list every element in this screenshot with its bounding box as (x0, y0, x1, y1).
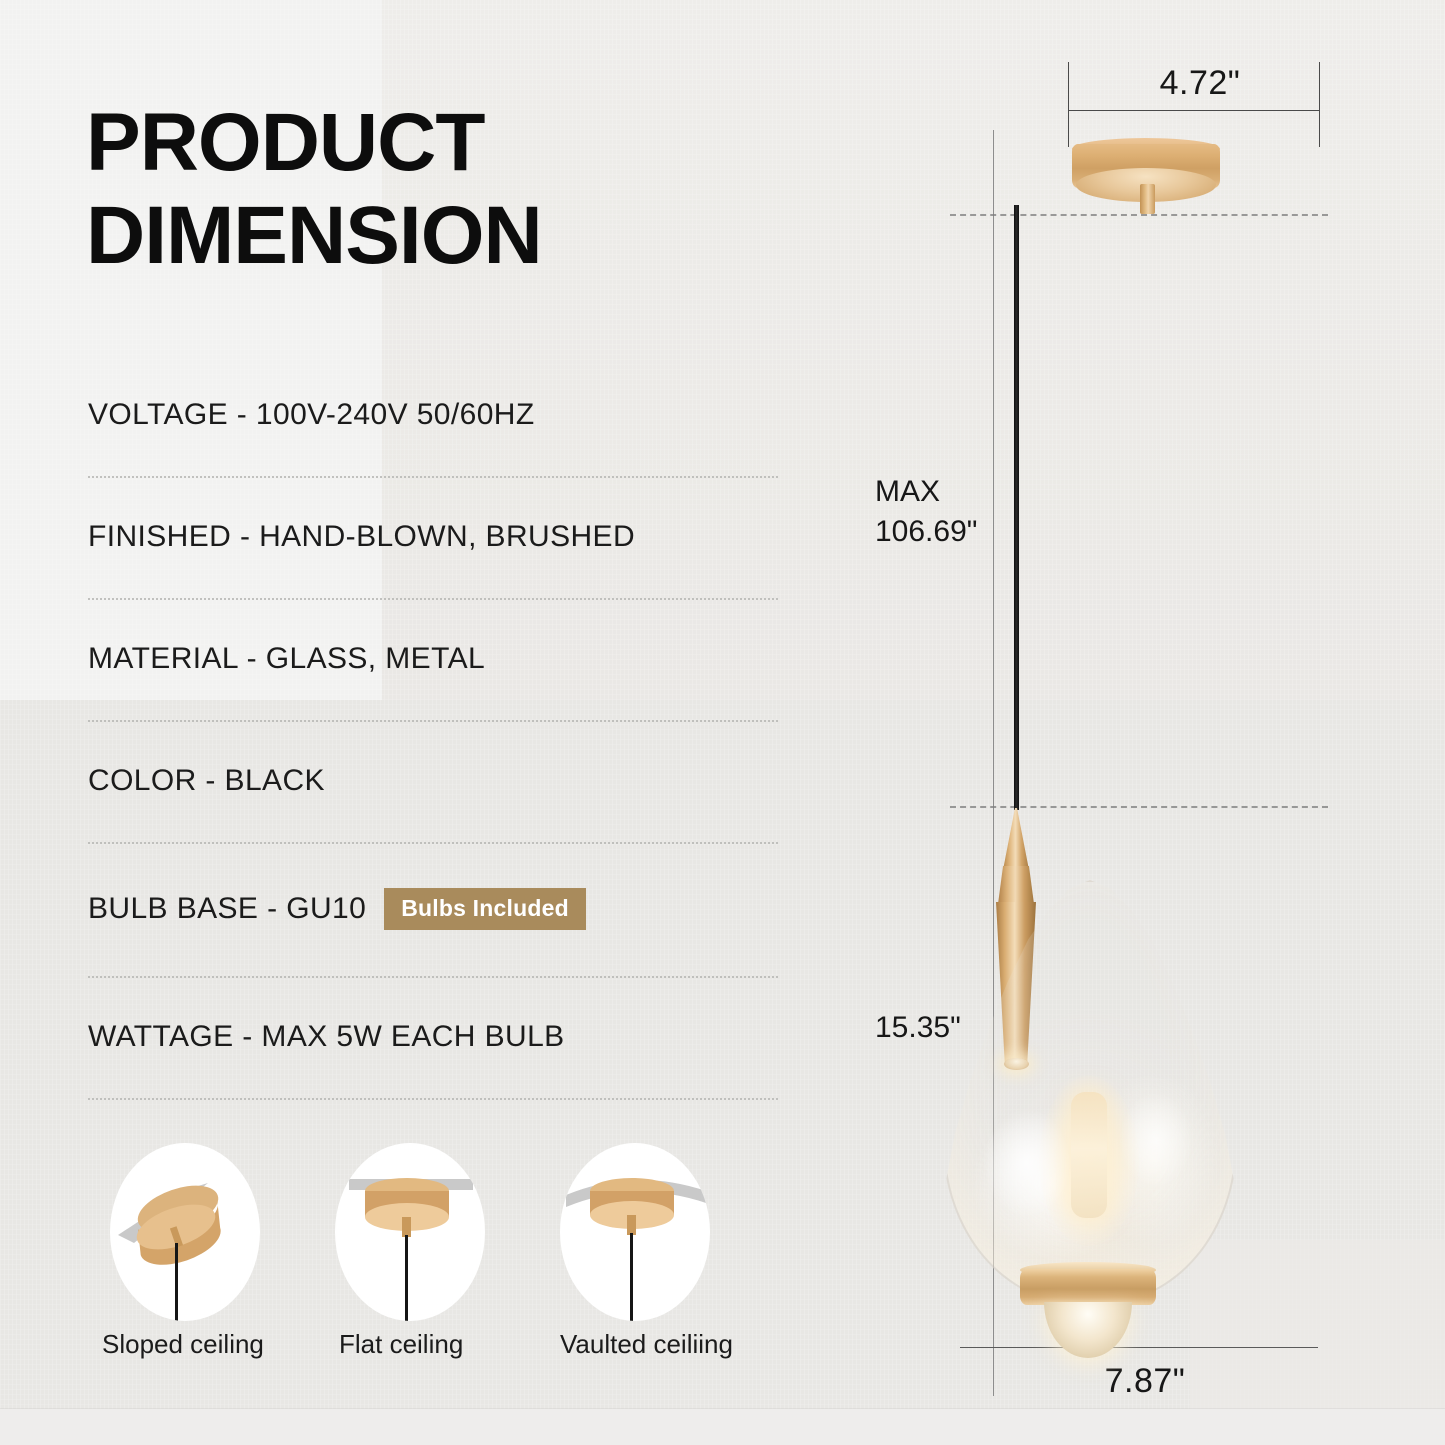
ceiling-guide-line (950, 214, 1328, 216)
spacer (88, 1052, 778, 1098)
shade-top-guide-line (950, 806, 1328, 808)
ceiling-options: Sloped ceiling Flat ceiling (110, 1143, 810, 1373)
product-dimension-diagram: 4.72" MAX 106.69" 15.35" 7.87" (940, 0, 1445, 1445)
canopy-width-tick-right (1319, 62, 1320, 147)
spacer (88, 478, 778, 522)
spacer (88, 844, 778, 888)
flat-ceiling-canopy-icon (335, 1143, 485, 1321)
spec-separator (88, 976, 778, 978)
glass-highlight-left (983, 1108, 1071, 1218)
ceiling-option-sloped: Sloped ceiling (110, 1143, 280, 1321)
bottom-ring-band (1020, 1269, 1156, 1305)
bulb-dome (1044, 1302, 1132, 1358)
bulbs-included-badge: Bulbs Included (384, 888, 586, 930)
spacer (88, 796, 778, 842)
spacer (88, 430, 778, 476)
page-title-line1: PRODUCT (86, 97, 484, 188)
glass-shade (943, 880, 1233, 1300)
sloped-ceiling-canopy-icon (110, 1143, 260, 1321)
spacer (88, 930, 778, 976)
spec-voltage-text: VOLTAGE - 100V-240V 50/60HZ (88, 400, 778, 430)
ceiling-option-flat-label: Flat ceiling (339, 1329, 569, 1360)
spec-separator (88, 598, 778, 600)
pendant-cord (1014, 205, 1019, 810)
spec-row-color: COLOR - BLACK (88, 766, 778, 796)
spec-row-voltage: VOLTAGE - 100V-240V 50/60HZ (88, 400, 778, 430)
spec-wattage-text: WATTAGE - MAX 5W EACH BULB (88, 1022, 778, 1052)
spec-row-bulb-base: BULB BASE - GU10 Bulbs Included (88, 888, 778, 930)
max-height-prefix: MAX (875, 472, 1065, 512)
cone-top-section (1003, 808, 1029, 870)
spec-row-wattage: WATTAGE - MAX 5W EACH BULB (88, 1022, 778, 1052)
canopy-width-label: 4.72" (1100, 64, 1300, 103)
spacer (88, 600, 778, 644)
shade-width-dimension-line (960, 1347, 1318, 1348)
spec-material-text: MATERIAL - GLASS, METAL (88, 644, 778, 674)
ceiling-option-vaulted: Vaulted ceiliing (560, 1143, 730, 1321)
spec-separator (88, 720, 778, 722)
page-title-line2: DIMENSION (86, 197, 786, 276)
spec-separator (88, 1098, 778, 1100)
spec-row-finished: FINISHED - HAND-BLOWN, BRUSHED (88, 522, 778, 552)
bulb-filament (1071, 1092, 1107, 1218)
spec-separator (88, 842, 778, 844)
spacer (88, 552, 778, 598)
spec-row-material: MATERIAL - GLASS, METAL (88, 644, 778, 674)
canopy-width-dimension-line (1068, 110, 1320, 111)
ceiling-option-flat: Flat ceiling (335, 1143, 505, 1321)
spec-list: VOLTAGE - 100V-240V 50/60HZ FINISHED - H… (88, 400, 778, 1100)
shade-width-label: 7.87" (1030, 1362, 1260, 1401)
canopy-width-tick-left (1068, 62, 1069, 147)
max-height-value: 106.69" (875, 512, 1065, 552)
spacer (88, 978, 778, 1022)
canopy-stem (1140, 184, 1155, 214)
ceiling-option-vaulted-label: Vaulted ceiliing (560, 1329, 790, 1360)
spacer (88, 674, 778, 720)
spacer (88, 722, 778, 766)
ceiling-option-sloped-label: Sloped ceiling (102, 1329, 332, 1360)
spec-bulb-base-row: BULB BASE - GU10 Bulbs Included (88, 888, 778, 930)
page-title: PRODUCT DIMENSION (86, 104, 786, 275)
vaulted-ceiling-canopy-icon (560, 1143, 710, 1321)
spec-bulb-base-text: BULB BASE - GU10 (88, 894, 366, 924)
ceiling-canopy (1072, 138, 1220, 200)
spec-color-text: COLOR - BLACK (88, 766, 778, 796)
max-height-dimension: MAX 106.69" (875, 472, 1065, 551)
spec-finished-text: FINISHED - HAND-BLOWN, BRUSHED (88, 522, 778, 552)
glass-highlight-right (1119, 1092, 1193, 1188)
spec-separator (88, 476, 778, 478)
